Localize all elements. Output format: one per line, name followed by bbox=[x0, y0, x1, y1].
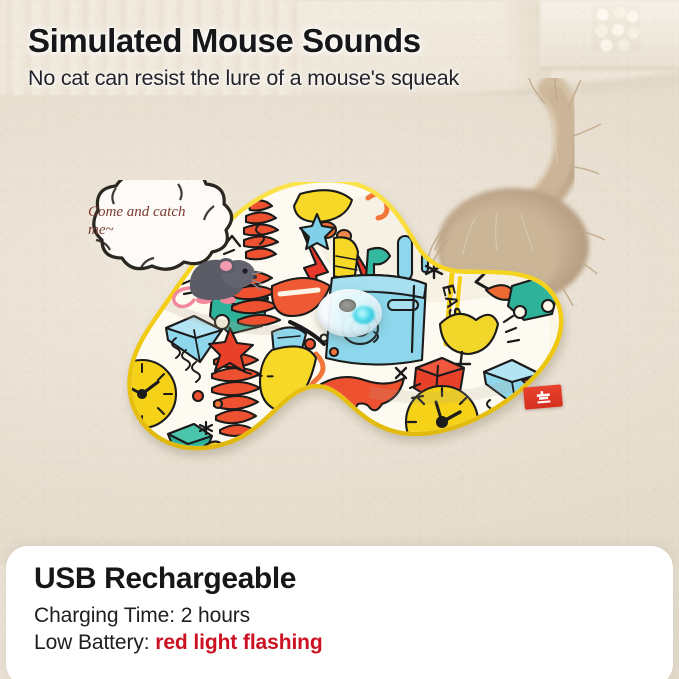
brand-tag-body bbox=[523, 384, 563, 409]
center-led-module[interactable] bbox=[317, 289, 382, 337]
brand-tag bbox=[523, 384, 563, 409]
low-battery-label: Low Battery: bbox=[34, 631, 155, 654]
low-battery-highlight: red light flashing bbox=[155, 631, 322, 654]
page-title: Simulated Mouse Sounds bbox=[28, 24, 648, 59]
low-battery-text: Low Battery: red light flashing bbox=[34, 631, 323, 655]
feature-card-title: USB Rechargeable bbox=[34, 562, 296, 596]
led-glow bbox=[307, 281, 392, 345]
brand-logo-icon bbox=[536, 390, 550, 403]
led-light bbox=[353, 306, 375, 324]
cartoon-mouse-icon bbox=[168, 244, 263, 312]
charging-time-text: Charging Time: 2 hours bbox=[34, 604, 250, 628]
product-feature-image: Simulated Mouse Sounds No cat can resist… bbox=[0, 0, 679, 679]
thought-bubble-text: Come and catch me~ bbox=[88, 203, 196, 240]
feature-card: USB Rechargeable Charging Time: 2 hours … bbox=[6, 546, 673, 679]
